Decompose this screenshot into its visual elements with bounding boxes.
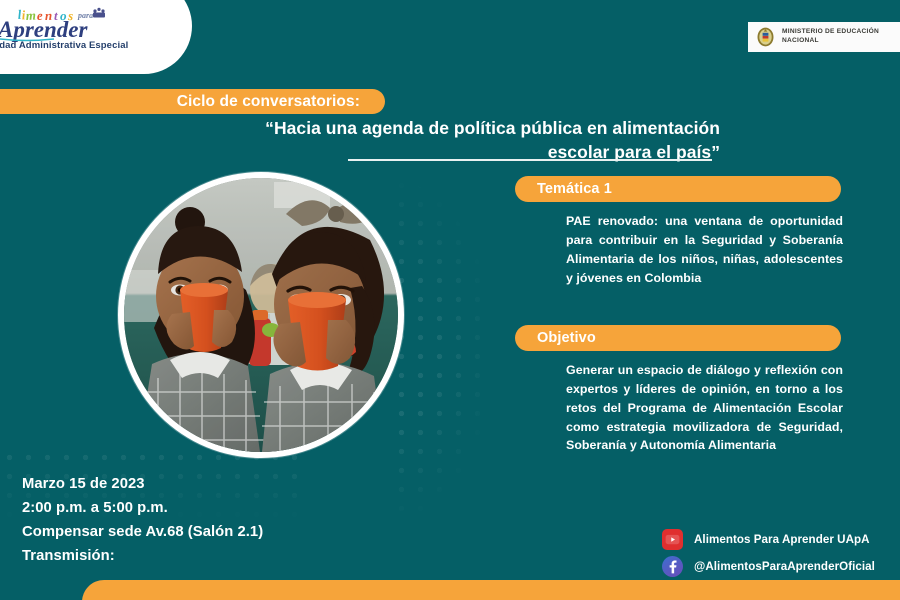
eyebrow-label: Ciclo de conversatorios: [177, 93, 360, 111]
social-row-facebook[interactable]: @AlimentosParaAprenderOficial [662, 553, 894, 580]
brand-block: l i m e n t o s para Aprender Unidad Adm… [0, 0, 152, 74]
section-body-tematica: PAE renovado: una ventana de oportunidad… [566, 212, 843, 287]
social-label-facebook: @AlimentosParaAprenderOficial [694, 560, 875, 573]
event-time: 2:00 p.m. a 5:00 p.m. [22, 497, 382, 521]
ministry-logo-text: MINISTERIO DE EDUCACIÓN NACIONAL [782, 28, 879, 45]
social-links: Alimentos Para Aprender UApA @AlimentosP… [662, 526, 894, 580]
event-photo-illustration [124, 178, 398, 452]
page-title: “Hacia una agenda de política pública en… [150, 116, 720, 164]
event-details: Marzo 15 de 2023 2:00 p.m. a 5:00 p.m. C… [22, 473, 382, 569]
ministry-line-1: MINISTERIO DE EDUCACIÓN [782, 28, 879, 37]
section-heading-objetivo: Objetivo [515, 325, 841, 351]
dot-pattern-right [392, 176, 510, 524]
eyebrow-pill: Ciclo de conversatorios: [0, 89, 385, 114]
facebook-icon[interactable] [662, 556, 683, 577]
svg-text:Aprender: Aprender [0, 17, 89, 42]
event-date: Marzo 15 de 2023 [22, 473, 382, 497]
ministry-logo-box: MINISTERIO DE EDUCACIÓN NACIONAL [748, 22, 900, 52]
youtube-icon[interactable] [662, 529, 683, 550]
alimentos-para-aprender-logo: l i m e n t o s para Aprender [0, 6, 116, 42]
event-photo [124, 178, 398, 452]
section-heading-label: Objetivo [537, 330, 596, 346]
social-row-youtube[interactable]: Alimentos Para Aprender UApA [662, 526, 894, 553]
title-underline [348, 159, 712, 161]
header-panel: l i m e n t o s para Aprender Unidad Adm… [0, 0, 192, 74]
event-broadcast-label: Transmisión: [22, 545, 382, 569]
event-venue: Compensar sede Av.68 (Salón 2.1) [22, 521, 382, 545]
brand-subtitle: Unidad Administrativa Especial [0, 40, 152, 51]
ministry-line-2: NACIONAL [782, 37, 879, 46]
photo-ring [118, 172, 404, 458]
poster-canvas: l i m e n t o s para Aprender Unidad Adm… [0, 0, 900, 600]
social-label-youtube: Alimentos Para Aprender UApA [694, 533, 870, 546]
section-heading-tematica: Temática 1 [515, 176, 841, 202]
page-title-line-2: escolar para el país” [150, 140, 720, 164]
section-body-objetivo: Generar un espacio de diálogo y reflexió… [566, 361, 843, 455]
bottom-accent-bar [82, 580, 900, 600]
section-heading-label: Temática 1 [537, 181, 612, 197]
page-title-line-1: “Hacia una agenda de política pública en… [150, 116, 720, 140]
colombia-coat-of-arms-icon [756, 27, 775, 48]
